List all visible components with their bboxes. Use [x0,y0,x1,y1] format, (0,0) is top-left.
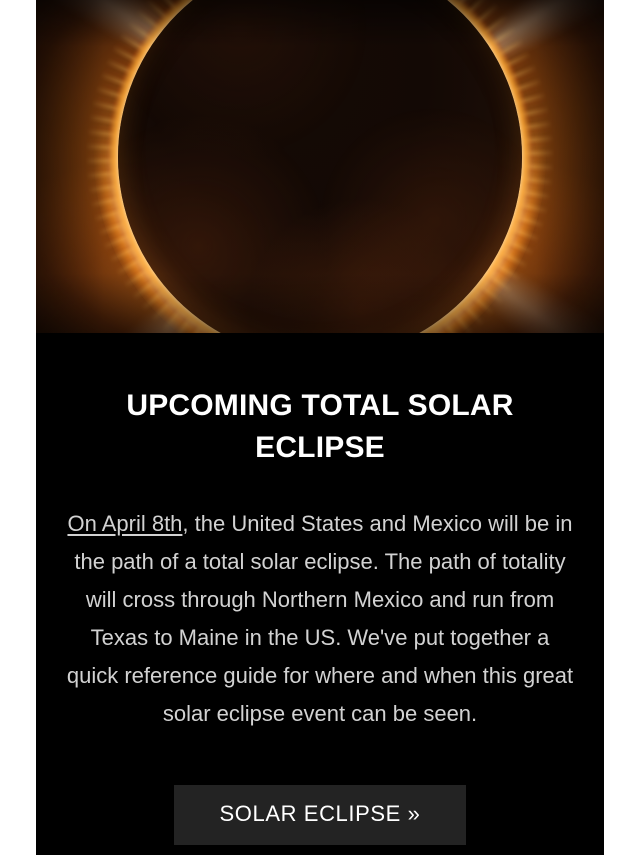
page-title: UPCOMING TOTAL SOLAR ECLIPSE [66,333,574,469]
moon-disc-texture [118,0,522,333]
cta-row: SOLAR ECLIPSE » [66,733,574,845]
solar-eclipse-button[interactable]: SOLAR ECLIPSE » [174,785,466,845]
body-paragraph-text: , the United States and Mexico will be i… [67,511,573,726]
hero-eclipse-image[interactable] [36,0,604,333]
eclipse-icon [118,0,522,333]
email-canvas: UPCOMING TOTAL SOLAR ECLIPSE On April 8t… [0,0,640,855]
april-8th-link[interactable]: On April 8th [67,511,182,536]
body-paragraph: On April 8th, the United States and Mexi… [66,469,574,733]
email-body-block: UPCOMING TOTAL SOLAR ECLIPSE On April 8t… [36,333,604,845]
email-content-column: UPCOMING TOTAL SOLAR ECLIPSE On April 8t… [36,0,604,855]
